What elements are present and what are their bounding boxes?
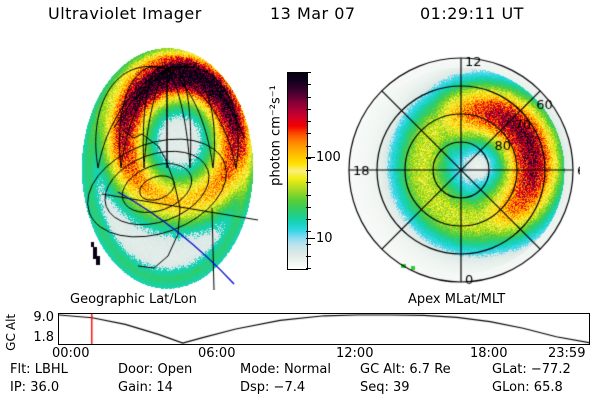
- status-field: IP: 36.0: [10, 380, 59, 395]
- status-field-value: −7.4: [269, 380, 305, 395]
- colorbar-minor-tick: [306, 219, 311, 220]
- status-field-label: IP:: [10, 380, 26, 395]
- colorbar-minor-tick: [306, 84, 311, 85]
- colorbar-minor-tick: [306, 109, 311, 110]
- status-field-value: 65.8: [530, 380, 563, 395]
- colorbar-major-tick: [306, 157, 315, 158]
- geographic-image-panel[interactable]: [62, 42, 262, 290]
- status-field-value: −77.2: [527, 362, 571, 377]
- colorbar-tick-label: 100: [316, 151, 341, 164]
- status-field-label: Dsp:: [240, 380, 269, 395]
- polar-mlt-panel[interactable]: [345, 52, 580, 292]
- polar-aurora-dial[interactable]: [345, 52, 580, 292]
- orbit-y-tick-label: 1.8: [33, 331, 54, 344]
- status-field-label: Seq:: [360, 380, 389, 395]
- orbit-x-tick-label: 18:00: [470, 347, 507, 360]
- status-field: GLon: 65.8: [492, 380, 563, 395]
- header-bar: Ultraviolet Imager 13 Mar 07 01:29:11 UT: [0, 4, 600, 34]
- observation-time: 01:29:11 UT: [420, 4, 524, 23]
- status-field-value: 36.0: [26, 380, 59, 395]
- colorbar-minor-tick: [306, 133, 311, 134]
- status-field: Mode: Normal: [240, 362, 331, 377]
- colorbar-minor-tick: [306, 97, 311, 98]
- status-field-value: 14: [152, 380, 173, 395]
- colorbar-minor-tick: [306, 195, 311, 196]
- observation-date: 13 Mar 07: [270, 4, 356, 23]
- orbit-x-tick-label: 00:00: [52, 347, 89, 360]
- colorbar-minor-tick: [306, 207, 311, 208]
- page-title: Ultraviolet Imager: [48, 4, 202, 23]
- status-field: Gain: 14: [118, 380, 173, 395]
- colorbar-minor-tick: [306, 256, 311, 257]
- status-field-label: GLon:: [492, 380, 530, 395]
- status-field-value: Open: [153, 362, 192, 377]
- colorbar-axis-label: photon cm⁻²s⁻¹: [269, 66, 284, 206]
- status-field-label: GC Alt:: [360, 362, 405, 377]
- geographic-aurora-image[interactable]: [62, 42, 262, 290]
- status-field-label: Mode:: [240, 362, 280, 377]
- status-field: Dsp: −7.4: [240, 380, 305, 395]
- status-field: Seq: 39: [360, 380, 410, 395]
- status-field: Flt: LBHL: [10, 362, 68, 377]
- status-field-label: Gain:: [118, 380, 152, 395]
- colorbar-major-tick: [306, 238, 315, 239]
- status-field-label: Door:: [118, 362, 153, 377]
- colorbar-minor-tick: [306, 72, 311, 73]
- status-field-value: LBHL: [31, 362, 68, 377]
- orbit-x-tick-label: 23:59: [548, 347, 585, 360]
- status-row-primary: Flt: LBHLDoor: OpenMode: NormalGC Alt: 6…: [0, 362, 600, 380]
- orbit-y-tick-label: 9.0: [33, 311, 54, 324]
- colorbar-minor-tick: [306, 170, 311, 171]
- status-field-value: Normal: [280, 362, 331, 377]
- colorbar-minor-tick: [306, 268, 311, 269]
- status-field-label: Flt:: [10, 362, 31, 377]
- orbit-x-tick-label: 12:00: [336, 347, 373, 360]
- status-field-value: 6.7 Re: [405, 362, 450, 377]
- orbit-altitude-strip[interactable]: Alt GC 9.01.8 00:0006:0012:0018:0023:59: [0, 305, 600, 357]
- status-row-secondary: IP: 36.0Gain: 14Dsp: −7.4Seq: 39GLon: 65…: [0, 380, 600, 398]
- status-bar: Flt: LBHLDoor: OpenMode: NormalGC Alt: 6…: [0, 362, 600, 400]
- colorbar-gradient: [287, 72, 308, 270]
- colorbar-minor-tick: [306, 231, 311, 232]
- status-field-label: GLat:: [492, 362, 527, 377]
- orbit-altitude-trace[interactable]: [59, 314, 589, 344]
- status-field-value: 39: [389, 380, 410, 395]
- colorbar-minor-tick: [306, 182, 311, 183]
- status-field: Door: Open: [118, 362, 192, 377]
- orbit-x-tick-label: 06:00: [198, 347, 235, 360]
- colorbar-minor-tick: [306, 158, 311, 159]
- colorbar-minor-tick: [306, 244, 311, 245]
- colorbar-minor-tick: [306, 121, 311, 122]
- colorbar-minor-tick: [306, 146, 311, 147]
- status-field: GC Alt: 6.7 Re: [360, 362, 451, 377]
- status-field: GLat: −77.2: [492, 362, 571, 377]
- colorbar-tick-label: 10: [316, 232, 333, 245]
- colorbar: photon cm⁻²s⁻¹ 10010: [258, 66, 350, 276]
- orbit-plot-frame[interactable]: [58, 313, 590, 345]
